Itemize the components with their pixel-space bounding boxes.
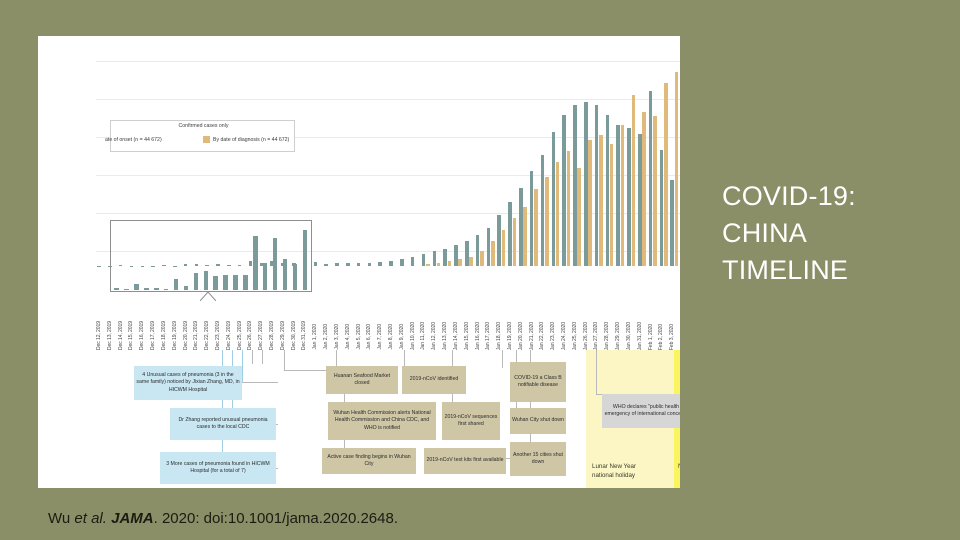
bar-diagnosis xyxy=(599,135,603,266)
bar-onset xyxy=(606,115,610,267)
x-axis-tick-label: Dec 31, 2019 xyxy=(301,321,312,350)
bar-diagnosis xyxy=(523,207,527,266)
bar-pair xyxy=(388,66,399,266)
band-label-lunar-line2: national holiday xyxy=(592,471,636,480)
bar-diagnosis xyxy=(513,218,517,266)
x-axis-tick-label: Feb 2, 2020 xyxy=(658,324,669,350)
bar-diagnosis xyxy=(588,140,592,267)
bar-onset xyxy=(324,264,328,266)
bar-diagnosis xyxy=(480,251,484,266)
annotation-box: 3 More cases of pneumonia found in HICWM… xyxy=(160,452,276,484)
annotation-text: 2019-nCoV identified xyxy=(410,376,458,383)
bar-diagnosis xyxy=(567,151,571,266)
bar-pair xyxy=(420,66,431,266)
bar-onset xyxy=(368,263,372,267)
x-axis-tick-label: Dec 12, 2019 xyxy=(96,321,107,350)
legend-item-onset: ate of onset (n = 44 672) xyxy=(95,136,162,143)
bar-diagnosis xyxy=(556,162,560,266)
x-axis-tick-label: Jan 14, 2020 xyxy=(453,322,464,350)
annotation-box: 2019-nCoV identified xyxy=(402,366,466,394)
bar-pair xyxy=(377,66,388,266)
bar-onset xyxy=(400,259,404,266)
inset-bar xyxy=(273,238,277,291)
inset-bars-group xyxy=(112,222,310,290)
x-axis-tick-label: Jan 29, 2020 xyxy=(615,322,626,350)
x-axis-tick-label: Jan 18, 2020 xyxy=(496,322,507,350)
legend-title: Confirmed cases only xyxy=(111,123,296,129)
annotation-box: 4 Unusual cases of pneumonia (3 in the s… xyxy=(134,366,242,400)
bar-diagnosis xyxy=(664,83,668,267)
chart-x-axis: Dec 12, 2019Dec 13, 2019Dec 14, 2019Dec … xyxy=(96,294,680,350)
bar-pair xyxy=(539,66,550,266)
x-axis-tick-label: Jan 10, 2020 xyxy=(410,322,421,350)
x-axis-tick-label: Jan 23, 2020 xyxy=(550,322,561,350)
bar-diagnosis xyxy=(502,230,506,266)
connector-line xyxy=(502,350,503,368)
x-axis-tick-label: Jan 8, 2020 xyxy=(388,324,399,350)
x-axis-tick-label: Dec 19, 2019 xyxy=(172,321,183,350)
annotation-box: 2019-nCoV test kits first available xyxy=(424,448,506,474)
legend-label-diagnosis: By date of diagnosis (n = 44 672) xyxy=(213,137,289,143)
bar-diagnosis xyxy=(448,261,452,267)
bar-pair xyxy=(453,66,464,266)
x-axis-tick-label: Jan 5, 2020 xyxy=(356,324,367,350)
inset-bar xyxy=(213,276,217,290)
bar-onset xyxy=(649,91,653,266)
bar-pair xyxy=(475,66,486,266)
citation: Wu et al. JAMA. 2020: doi:10.1001/jama.2… xyxy=(48,510,398,527)
bar-pair xyxy=(507,66,518,266)
x-axis-tick-label: Dec 29, 2019 xyxy=(280,321,291,350)
citation-etal: et al. xyxy=(74,510,107,527)
bar-onset xyxy=(573,105,577,266)
x-axis-tick-label: Jan 13, 2020 xyxy=(442,322,453,350)
x-axis-tick-label: Dec 27, 2019 xyxy=(258,321,269,350)
x-axis-tick-label: Jan 15, 2020 xyxy=(464,322,475,350)
bar-onset xyxy=(422,254,426,266)
x-axis-tick-label: Jan 20, 2020 xyxy=(518,322,529,350)
x-axis-tick-label: Jan 7, 2020 xyxy=(377,324,388,350)
inset-bar xyxy=(134,284,138,290)
bar-pair xyxy=(518,66,529,266)
bar-onset xyxy=(541,155,545,267)
x-axis-tick-label: Dec 20, 2019 xyxy=(183,321,194,350)
inset-bar xyxy=(204,271,208,290)
bar-pair xyxy=(496,66,507,266)
bar-diagnosis xyxy=(426,264,430,266)
legend-item-diagnosis: By date of diagnosis (n = 44 672) xyxy=(203,136,289,143)
x-axis-tick-label: Dec 28, 2019 xyxy=(269,321,280,350)
inset-bar xyxy=(303,230,307,290)
legend-label-onset: ate of onset (n = 44 672) xyxy=(105,137,162,143)
bar-onset xyxy=(443,249,447,266)
inset-bar xyxy=(233,275,237,290)
bar-onset xyxy=(378,262,382,266)
x-axis-tick-label: Jan 9, 2020 xyxy=(399,324,410,350)
bar-diagnosis xyxy=(469,257,473,267)
bar-onset xyxy=(660,150,664,266)
inset-bar xyxy=(243,275,247,290)
bar-diagnosis xyxy=(653,116,657,266)
inset-bar xyxy=(164,289,168,291)
inset-bar xyxy=(114,288,118,291)
x-axis-tick-label: Feb 3, 2020 xyxy=(669,324,680,350)
band-label-national-line1: Na xyxy=(678,462,680,471)
inset-caret-icon xyxy=(200,292,216,301)
annotation-box: Wuhan City shut down xyxy=(510,408,566,434)
bar-onset xyxy=(530,171,534,266)
annotation-box: Active case finding begins in Wuhan City xyxy=(322,448,416,474)
annotation-box: WHO declares "public health emergency of… xyxy=(602,394,680,428)
x-axis-tick-label: Dec 24, 2019 xyxy=(226,321,237,350)
bar-onset xyxy=(314,262,318,266)
inset-bar xyxy=(253,236,257,290)
gridline xyxy=(96,61,680,62)
bar-pair xyxy=(669,66,680,266)
bar-pair xyxy=(648,66,659,266)
bar-pair xyxy=(626,66,637,266)
bar-onset xyxy=(476,235,480,266)
x-axis-tick-label: Feb 1, 2020 xyxy=(648,324,659,350)
annotation-box: Dr Zhang reported unusual pneumonia case… xyxy=(170,408,276,440)
bar-diagnosis xyxy=(534,189,538,266)
bar-pair xyxy=(410,66,421,266)
bar-onset xyxy=(346,263,350,266)
x-axis-tick-label: Jan 4, 2020 xyxy=(345,324,356,350)
x-axis-tick-label: Jan 21, 2020 xyxy=(529,322,540,350)
bar-diagnosis xyxy=(610,144,614,266)
connector-line xyxy=(232,350,233,364)
bar-pair xyxy=(334,66,345,266)
annotation-text: Another 15 cities shut down xyxy=(512,452,564,467)
bar-diagnosis xyxy=(437,263,441,266)
annotation-text: Wuhan City shut down xyxy=(512,417,564,424)
bar-pair xyxy=(366,66,377,266)
x-axis-tick-label: Jan 24, 2020 xyxy=(561,322,572,350)
annotation-text: Active case finding begins in Wuhan City xyxy=(324,454,414,469)
bar-onset xyxy=(584,102,588,267)
bar-pair xyxy=(561,66,572,266)
x-axis-tick-label: Dec 17, 2019 xyxy=(150,321,161,350)
bar-onset xyxy=(670,180,674,266)
bar-onset xyxy=(519,188,523,267)
annotation-text: 2019-nCoV test kits first available xyxy=(427,457,504,464)
x-axis-tick-label: Dec 23, 2019 xyxy=(215,321,226,350)
connector-line xyxy=(596,350,597,394)
bar-pair xyxy=(399,66,410,266)
bar-pair xyxy=(323,66,334,266)
x-axis-tick-label: Dec 21, 2019 xyxy=(193,321,204,350)
bar-pair xyxy=(550,66,561,266)
chart-legend: Confirmed cases only ate of onset (n = 4… xyxy=(110,120,295,152)
x-axis-tick-label: Jan 11, 2020 xyxy=(420,322,431,350)
bar-diagnosis xyxy=(621,125,625,267)
connector-line xyxy=(284,350,285,370)
connector-line xyxy=(242,382,278,383)
bar-diagnosis xyxy=(545,177,549,266)
x-axis-tick-label: Dec 15, 2019 xyxy=(128,321,139,350)
slide-title-line-2: CHINA xyxy=(722,215,952,252)
bar-onset xyxy=(616,125,620,266)
inset-bar xyxy=(154,288,158,290)
annotation-text: 2019-nCoV sequences first shared xyxy=(444,414,498,429)
x-axis-tick-label: Dec 22, 2019 xyxy=(204,321,215,350)
legend-swatch-orange xyxy=(203,136,210,143)
bar-pair xyxy=(442,66,453,266)
bar-diagnosis xyxy=(577,168,581,266)
bar-diagnosis xyxy=(632,95,636,266)
bar-onset xyxy=(335,263,339,266)
bar-pair xyxy=(604,66,615,266)
bar-onset xyxy=(562,115,566,267)
x-axis-tick-label: Jan 19, 2020 xyxy=(507,322,518,350)
bar-pair xyxy=(583,66,594,266)
x-axis-tick-label: Jan 28, 2020 xyxy=(604,322,615,350)
citation-rest: . 2020: doi:10.1001/jama.2020.2648. xyxy=(154,510,398,527)
annotation-box: COVID-19 a Class B notifiable disease xyxy=(510,362,566,402)
bar-pair xyxy=(96,66,107,266)
connector-line xyxy=(222,350,223,364)
annotation-text: COVID-19 a Class B notifiable disease xyxy=(512,375,564,390)
timeline-annotations-area: Lunar New Year national holiday Na xyxy=(96,350,680,488)
x-axis-tick-label: Jan 3, 2020 xyxy=(334,324,345,350)
connector-line xyxy=(252,350,253,364)
inset-bar xyxy=(184,286,188,290)
annotation-text: 4 Unusual cases of pneumonia (3 in the s… xyxy=(136,372,240,394)
bar-pair xyxy=(637,66,648,266)
bar-pair xyxy=(485,66,496,266)
bar-pair xyxy=(529,66,540,266)
inset-bar xyxy=(144,288,148,291)
bar-onset xyxy=(357,263,361,266)
connector-line xyxy=(242,350,243,364)
annotation-box: 2019-nCoV sequences first shared xyxy=(442,402,500,440)
x-axis-tick-label: Dec 30, 2019 xyxy=(291,321,302,350)
bar-onset xyxy=(454,245,458,266)
x-axis-tick-label: Jan 17, 2020 xyxy=(485,322,496,350)
inset-bar xyxy=(194,273,198,290)
annotation-box: Wuhan Health Commission alerts National … xyxy=(328,402,436,440)
bar-onset xyxy=(487,228,491,266)
bar-pair xyxy=(431,66,442,266)
bar-onset xyxy=(497,215,501,266)
band-label-lunar-line1: Lunar New Year xyxy=(592,462,636,471)
bar-diagnosis xyxy=(675,72,679,266)
citation-journal: JAMA xyxy=(111,510,154,527)
annotation-text: WHO declares "public health emergency of… xyxy=(604,404,680,419)
x-axis-tick-label: Dec 26, 2019 xyxy=(247,321,258,350)
bar-diagnosis xyxy=(491,241,495,266)
annotation-text: 3 More cases of pneumonia found in HICWM… xyxy=(162,461,274,476)
connector-line xyxy=(242,364,243,382)
bar-onset xyxy=(638,134,642,266)
bar-pair xyxy=(572,66,583,266)
x-axis-tick-label: Dec 14, 2019 xyxy=(118,321,129,350)
bar-onset xyxy=(508,202,512,267)
x-axis-tick-label: Jan 2, 2020 xyxy=(323,324,334,350)
bar-onset xyxy=(465,241,469,266)
slide-title-line-3: TIMELINE xyxy=(722,252,952,289)
x-axis-tick-label: Dec 13, 2019 xyxy=(107,321,118,350)
inset-bar xyxy=(293,264,297,290)
annotation-text: Huanan Seafood Market closed xyxy=(328,373,396,388)
x-axis-tick-label: Jan 12, 2020 xyxy=(431,322,442,350)
x-axis-tick-label: Jan 26, 2020 xyxy=(583,322,594,350)
x-axis-tick-label: Dec 25, 2019 xyxy=(237,321,248,350)
bar-pair xyxy=(658,66,669,266)
band-label-national: Na xyxy=(678,462,680,471)
slide-title: COVID-19: CHINA TIMELINE xyxy=(722,178,952,289)
bar-pair xyxy=(615,66,626,266)
annotation-box: Another 15 cities shut down xyxy=(510,442,566,476)
band-label-lunar: Lunar New Year national holiday xyxy=(592,462,636,480)
bar-onset xyxy=(389,261,393,266)
inset-bar xyxy=(124,289,128,290)
bar-onset xyxy=(411,257,415,266)
bar-pair xyxy=(356,66,367,266)
bar-onset xyxy=(552,132,556,267)
bar-onset xyxy=(627,128,631,266)
bar-diagnosis xyxy=(458,259,462,267)
x-axis-tick-label: Jan 31, 2020 xyxy=(637,322,648,350)
x-axis-tick-label: Jan 16, 2020 xyxy=(475,322,486,350)
bar-diagnosis xyxy=(642,112,646,266)
x-axis-tick-label: Jan 22, 2020 xyxy=(539,322,550,350)
bar-pair xyxy=(593,66,604,266)
x-axis-tick-label: Dec 16, 2019 xyxy=(139,321,150,350)
citation-author: Wu xyxy=(48,510,74,527)
x-axis-tick-label: Jan 1, 2020 xyxy=(312,324,323,350)
x-axis-tick-label: Jan 27, 2020 xyxy=(593,322,604,350)
connector-line xyxy=(262,350,263,364)
bar-onset xyxy=(433,251,437,266)
annotation-box: Huanan Seafood Market closed xyxy=(326,366,398,394)
bar-pair xyxy=(312,66,323,266)
figure-panel: Confirmed cases only ate of onset (n = 4… xyxy=(38,36,680,488)
annotation-text: Wuhan Health Commission alerts National … xyxy=(330,410,434,432)
slide-title-line-1: COVID-19: xyxy=(722,178,952,215)
inset-bar xyxy=(283,259,287,291)
inset-bar xyxy=(223,275,227,291)
x-axis-tick-label: Dec 18, 2019 xyxy=(161,321,172,350)
x-axis-tick-label: Jan 25, 2020 xyxy=(572,322,583,350)
x-axis-tick-label: Jan 6, 2020 xyxy=(366,324,377,350)
x-axis-tick-label: Jan 30, 2020 xyxy=(626,322,637,350)
bar-pair xyxy=(464,66,475,266)
annotation-text: Dr Zhang reported unusual pneumonia case… xyxy=(172,417,274,432)
bar-onset xyxy=(595,105,599,266)
bar-pair xyxy=(345,66,356,266)
inset-bar xyxy=(174,279,178,290)
inset-bar xyxy=(263,263,267,291)
